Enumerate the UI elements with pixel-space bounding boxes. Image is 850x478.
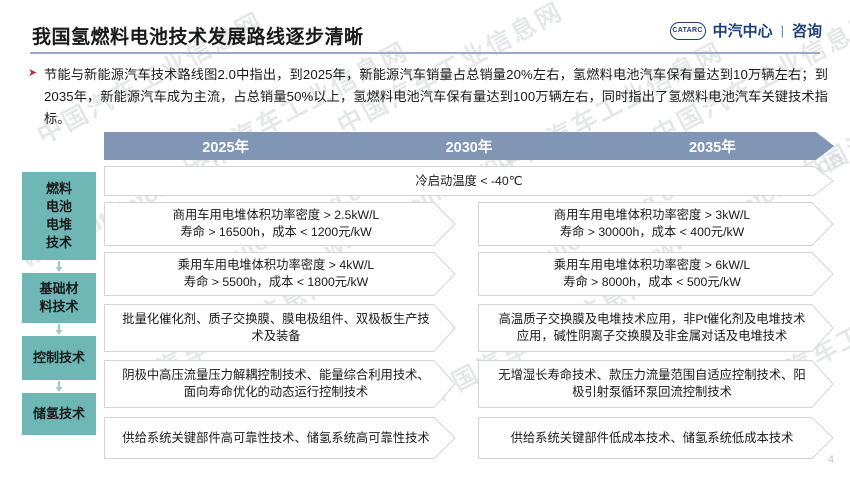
category-label-line: 技术 [46,234,72,252]
page-title: 我国氢燃料电池技术发展路线逐步清晰 [32,22,364,49]
cell-text-line: 乘用车用电堆体积功率密度 > 6kW/L [554,257,750,274]
category-label-line: 储氢技术 [33,405,85,423]
cell-2030-control-technology[interactable]: 无增湿长寿命技术、款压力流量范围自适应控制技术、阳 极引射泵循环泵回流控制技术 [478,360,834,408]
page-number: 4 [828,454,834,466]
row-cold-start: 冷启动温度 < -40℃ [104,166,834,196]
down-arrow-icon [22,380,96,393]
brand-logo: CATARC 中汽中心 | 咨询 [670,20,822,41]
cell-text-line: 寿命 > 8000h，成本 < 500元/kW [554,274,750,291]
category-label-line: 基础材 [39,280,78,298]
cell-text-line: 寿命 > 16500h，成本 < 1200元/kW [173,224,380,241]
category-label-line: 电堆 [46,216,72,234]
cell-2030-passenger-stack[interactable]: 乘用车用电堆体积功率密度 > 6kW/L 寿命 > 8000h，成本 < 500… [478,252,834,296]
year-header-2035[interactable]: 2035年 [591,132,834,160]
brand-subname: 咨询 [792,20,822,41]
category-label-line: 燃料 [46,180,72,198]
down-arrow-icon [22,323,96,336]
category-label-line: 电池 [46,198,72,216]
cell-2025-hydrogen-storage[interactable]: 供给系统关键部件高可靠性技术、储氢系统高可靠性技术 [104,417,456,459]
slide-header: 我国氢燃料电池技术发展路线逐步清晰 CATARC 中汽中心 | 咨询 [0,0,850,56]
cell-text: 供给系统关键部件高可靠性技术、储氢系统高可靠性技术 [104,417,456,459]
arrow-bullet-icon: ➤ [28,64,44,130]
cell-text-line: 极引射泵循环泵回流控制技术 [498,384,805,401]
cell-2025-passenger-stack[interactable]: 乘用车用电堆体积功率密度 > 4kW/L 寿命 > 5500h，成本 < 180… [104,252,456,296]
cell-text-line: 批量化催化剂、质子交换膜、膜电极组件、双极板生产技 [122,311,429,328]
category-column: 燃料 电池 电堆 技术 基础材 料技术 控制技术 储氢技术 [22,172,96,435]
row-control-technology: 阴极中高压流量压力解耦控制技术、能量综合利用技术、 面向寿命优化的动态运行控制技… [104,360,834,408]
row-passenger-vehicle-stack: 乘用车用电堆体积功率密度 > 4kW/L 寿命 > 5500h，成本 < 180… [104,252,834,296]
roadmap-grid: 2025年 2030年 2035年 冷启动温度 < -40℃ [104,132,834,464]
cell-text-line: 高温质子交换膜及电堆技术应用，非Pt催化剂及电堆技术 [499,311,806,328]
category-box-fuel-cell-stack[interactable]: 燃料 电池 电堆 技术 [22,172,96,260]
cell-2030-commercial-stack[interactable]: 商用车用电堆体积功率密度 > 3kW/L 寿命 > 30000h，成本 < 40… [478,202,834,246]
year-header-2030[interactable]: 2030年 [347,132,590,160]
row-basic-materials: 批量化催化剂、质子交换膜、膜电极组件、双极板生产技 术及装备 高温质子交换膜及电… [104,304,834,352]
row-hydrogen-storage: 供给系统关键部件高可靠性技术、储氢系统高可靠性技术 供给系统关键部件低成本技术、… [104,417,834,459]
catarc-logo-icon: CATARC [670,22,706,40]
category-label-line: 控制技术 [33,349,85,367]
roadmap-diagram: 燃料 电池 电堆 技术 基础材 料技术 控制技术 储氢技术 [0,132,850,452]
cell-text-line: 应用，碱性阴离子交换膜及非金属对话及电堆技术 [499,328,806,345]
category-label-line: 料技术 [39,298,78,316]
cell-text: 乘用车用电堆体积功率密度 > 4kW/L 寿命 > 5500h，成本 < 180… [104,252,456,296]
header-divider [30,52,820,54]
cell-text-line: 面向寿命优化的动态运行控制技术 [122,384,429,401]
down-arrow-icon [22,260,96,273]
cell-text-line: 寿命 > 30000h，成本 < 400元/kW [554,224,750,241]
cell-2025-commercial-stack[interactable]: 商用车用电堆体积功率密度 > 2.5kW/L 寿命 > 16500h，成本 < … [104,202,456,246]
cell-text: 商用车用电堆体积功率密度 > 3kW/L 寿命 > 30000h，成本 < 40… [478,202,834,246]
cell-text-line: 寿命 > 5500h，成本 < 1800元/kW [178,274,374,291]
cell-2030-hydrogen-storage[interactable]: 供给系统关键部件低成本技术、储氢系统低成本技术 [478,417,834,459]
cell-text: 商用车用电堆体积功率密度 > 2.5kW/L 寿命 > 16500h，成本 < … [104,202,456,246]
cell-text-line: 商用车用电堆体积功率密度 > 2.5kW/L [173,207,380,224]
cell-text: 冷启动温度 < -40℃ [104,166,834,196]
category-box-control-tech[interactable]: 控制技术 [22,336,96,380]
category-box-hydrogen-storage[interactable]: 储氢技术 [22,393,96,435]
cell-text: 供给系统关键部件低成本技术、储氢系统低成本技术 [478,417,834,459]
cell-text-line: 商用车用电堆体积功率密度 > 3kW/L [554,207,750,224]
cell-text-line: 乘用车用电堆体积功率密度 > 4kW/L [178,257,374,274]
bullet-paragraph: ➤ 节能与新能源汽车技术路线图2.0中指出，到2025年，新能源汽车销量占总销量… [28,64,828,130]
cell-2025-basic-materials[interactable]: 批量化催化剂、质子交换膜、膜电极组件、双极板生产技 术及装备 [104,304,456,352]
cell-text: 乘用车用电堆体积功率密度 > 6kW/L 寿命 > 8000h，成本 < 500… [478,252,834,296]
cell-text: 阴极中高压流量压力解耦控制技术、能量综合利用技术、 面向寿命优化的动态运行控制技… [104,360,456,408]
brand-separator: | [781,23,784,38]
cell-text-line: 无增湿长寿命技术、款压力流量范围自适应控制技术、阳 [498,367,805,384]
row-commercial-vehicle-stack: 商用车用电堆体积功率密度 > 2.5kW/L 寿命 > 16500h，成本 < … [104,202,834,246]
category-box-basic-materials[interactable]: 基础材 料技术 [22,273,96,323]
cell-text-line: 阴极中高压流量压力解耦控制技术、能量综合利用技术、 [122,367,429,384]
cell-2025-control-technology[interactable]: 阴极中高压流量压力解耦控制技术、能量综合利用技术、 面向寿命优化的动态运行控制技… [104,360,456,408]
cell-cold-start-temperature[interactable]: 冷启动温度 < -40℃ [104,166,834,196]
cell-text: 无增湿长寿命技术、款压力流量范围自适应控制技术、阳 极引射泵循环泵回流控制技术 [478,360,834,408]
cell-text: 批量化催化剂、质子交换膜、膜电极组件、双极板生产技 术及装备 [104,304,456,352]
bullet-text: 节能与新能源汽车技术路线图2.0中指出，到2025年，新能源汽车销量占总销量20… [44,64,828,130]
cell-text: 高温质子交换膜及电堆技术应用，非Pt催化剂及电堆技术 应用，碱性阴离子交换膜及非… [478,304,834,352]
cell-text-line: 术及装备 [122,328,429,345]
year-header-2025[interactable]: 2025年 [104,132,347,160]
cell-2030-basic-materials[interactable]: 高温质子交换膜及电堆技术应用，非Pt催化剂及电堆技术 应用，碱性阴离子交换膜及非… [478,304,834,352]
year-header-band: 2025年 2030年 2035年 [104,132,834,160]
brand-name: 中汽中心 [713,20,773,41]
